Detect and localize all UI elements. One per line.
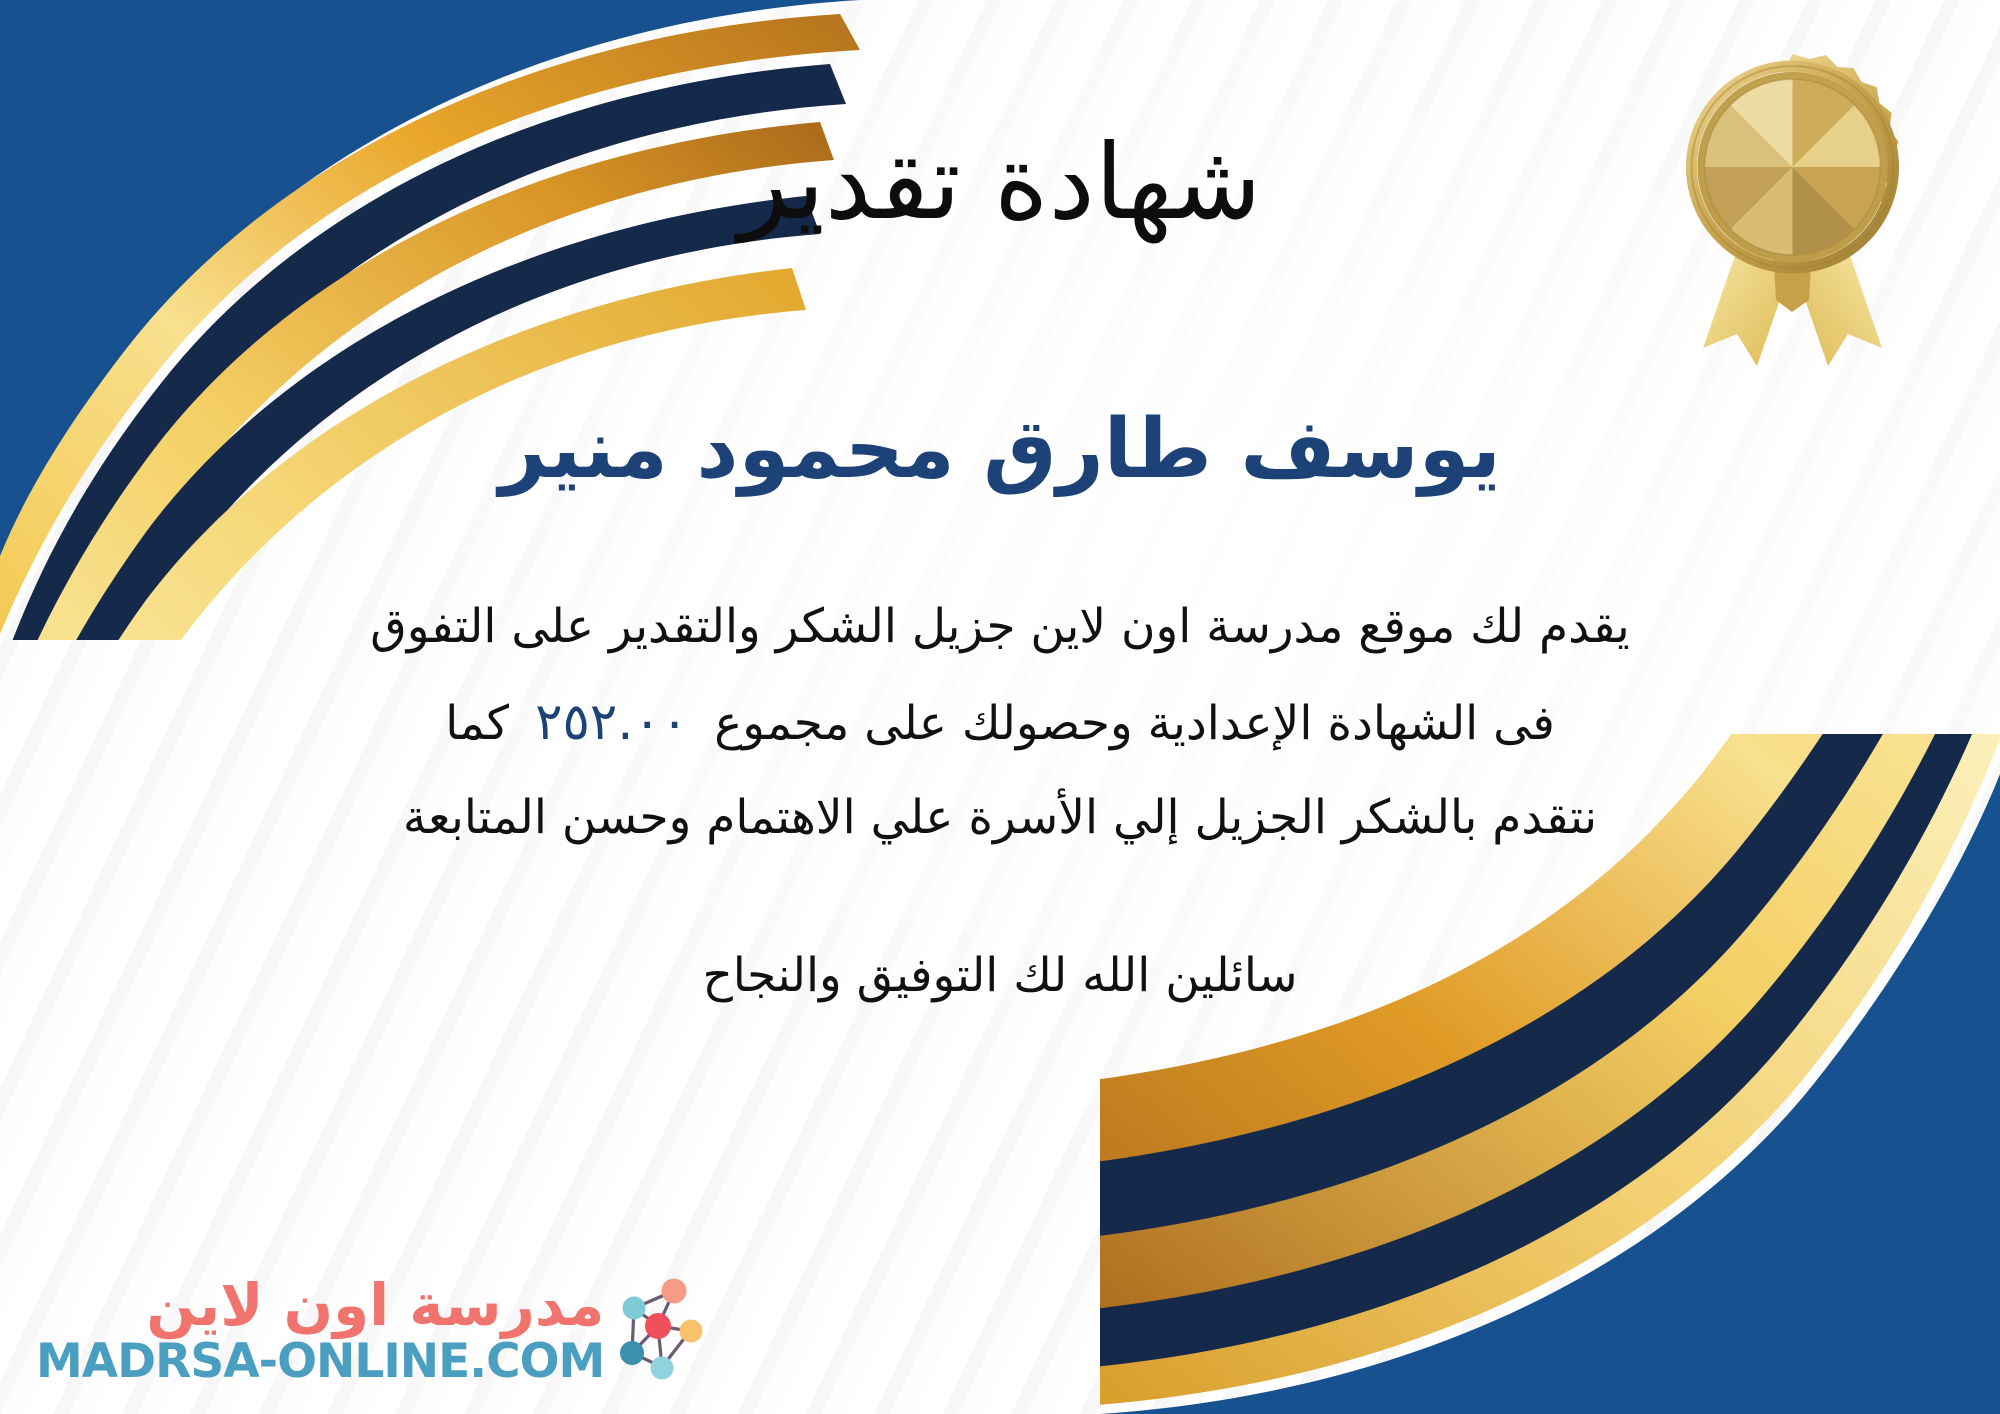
body-line-3: نتقدم بالشكر الجزيل إلي الأسرة علي الاهت… [95, 772, 1905, 864]
brand-text-group: مدرسة اون لاين MADRSA-ONLINE.COM [36, 1276, 604, 1385]
body-line-1: يقدم لك موقع مدرسة اون لاين جزيل الشكر و… [95, 581, 1905, 673]
certificate-title: شهادة تقدير [738, 128, 1261, 237]
brand-website-url[interactable]: MADRSA-ONLINE.COM [36, 1338, 604, 1385]
brand-arabic-name: مدرسة اون لاين [146, 1276, 604, 1334]
body-line-2-suffix: كما [445, 696, 509, 751]
certificate-canvas: شهادة تقدير يوسف طارق محمود منير يقدم لك… [0, 0, 2000, 1414]
gold-award-medal-rosette [1665, 48, 1920, 388]
body-line-2: فى الشهادة الإعدادية وحصولك على مجموع٢٥٢… [95, 673, 1905, 772]
network-nodes-logo-icon [612, 1274, 704, 1386]
closing-line: سائلين الله لك التوفيق والنجاح [702, 938, 1297, 1013]
certificate-body: يقدم لك موقع مدرسة اون لاين جزيل الشكر و… [95, 581, 1905, 864]
student-name: يوسف طارق محمود منير [499, 405, 1501, 495]
body-line-2-prefix: فى الشهادة الإعدادية وحصولك على مجموع [714, 696, 1555, 751]
grade-total-value: ٢٥٢.٠٠ [509, 693, 714, 752]
brand-logo[interactable]: مدرسة اون لاين MADRSA-ONLINE.COM [36, 1274, 704, 1386]
